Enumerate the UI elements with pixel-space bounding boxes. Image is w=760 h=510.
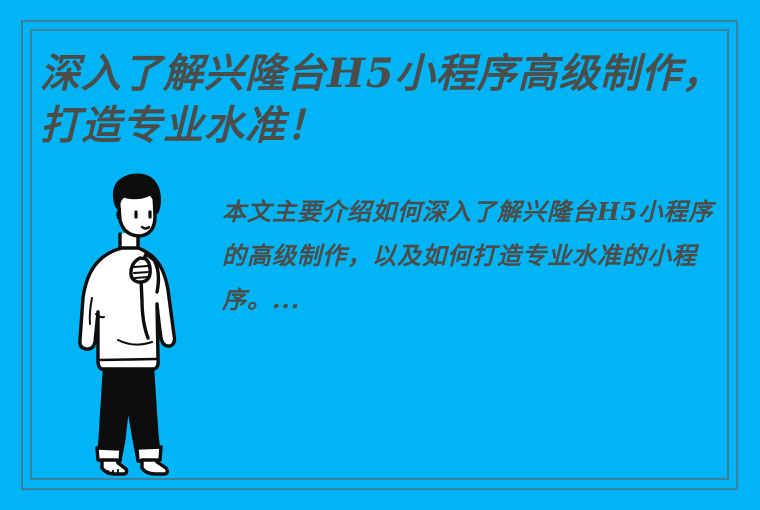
- standing-person-illustration: [62, 172, 190, 478]
- poster-canvas: 深入了解兴隆台H5小程序高级制作，打造专业水准！ 本文主要介绍如何深入了解兴隆台…: [0, 0, 760, 510]
- person-figure-icon: [62, 172, 190, 478]
- page-title: 深入了解兴隆台H5小程序高级制作，打造专业水准！: [40, 48, 730, 152]
- article-summary: 本文主要介绍如何深入了解兴隆台H5小程序的高级制作，以及如何打造专业水准的小程序…: [222, 190, 722, 322]
